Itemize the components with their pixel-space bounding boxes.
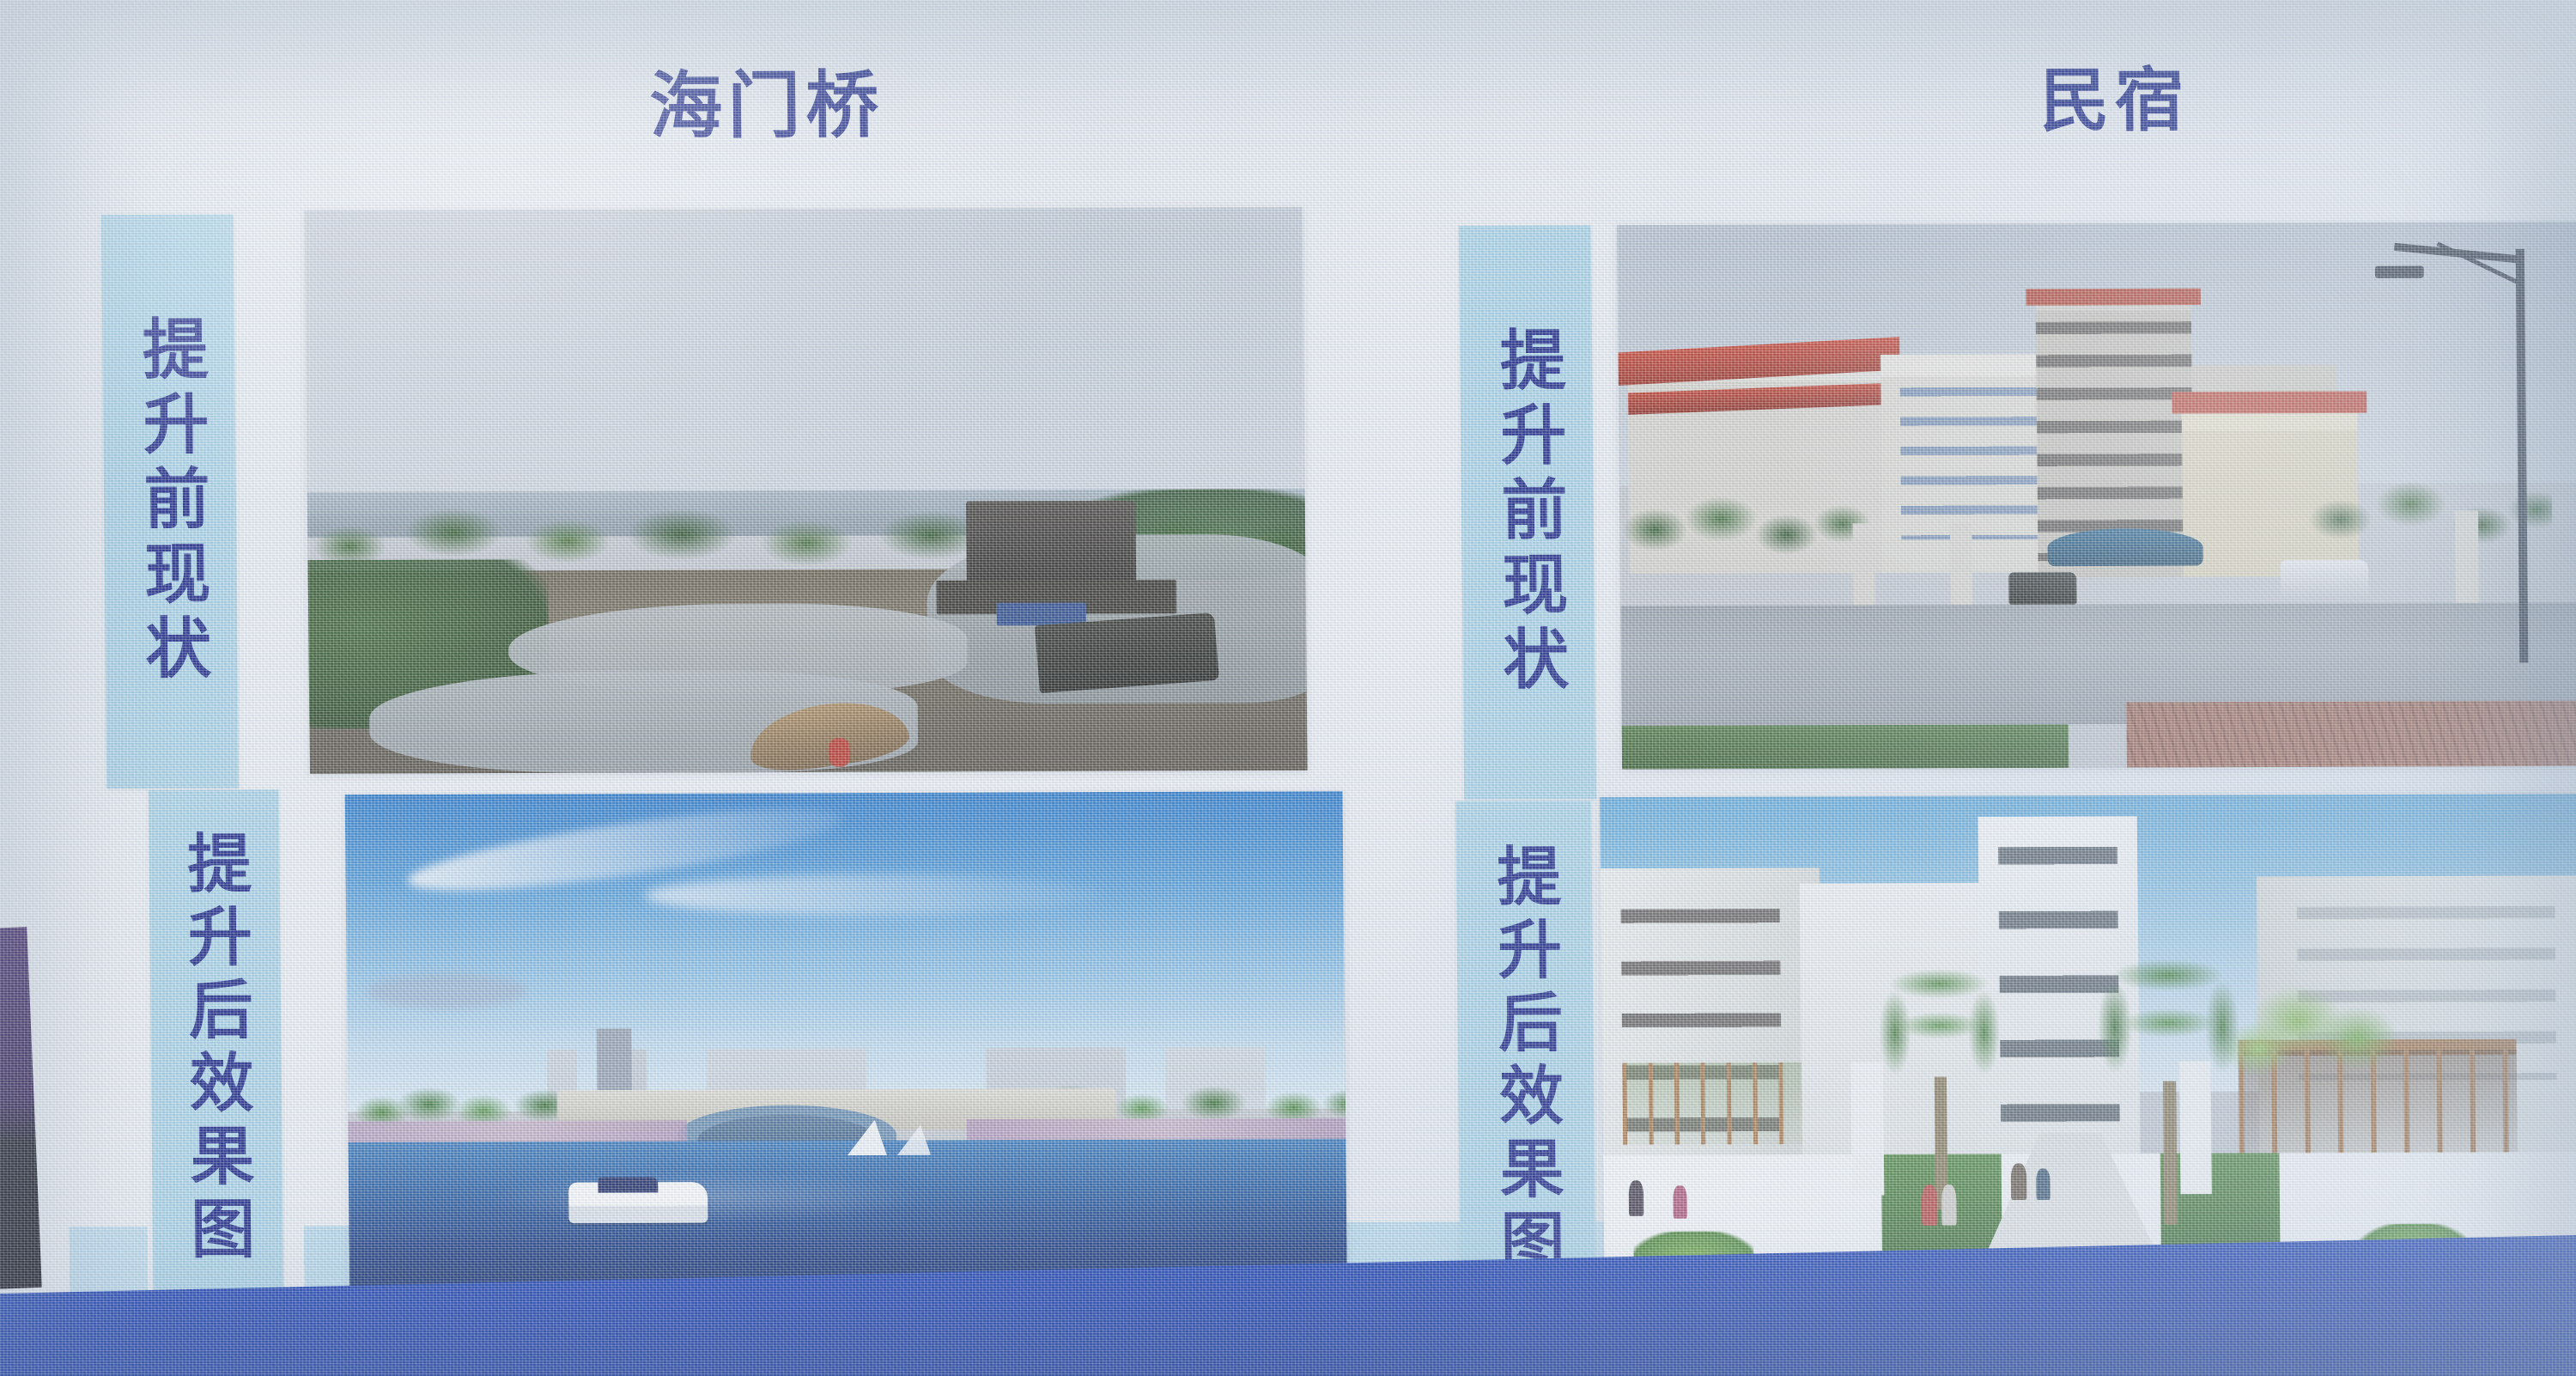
label-strip-after-right: 提升后效果图	[1455, 801, 1596, 1323]
left-trees	[1619, 464, 1874, 595]
label-strip-before-right: 提升前现状	[1459, 225, 1596, 799]
pedestrian-figure	[2011, 1164, 2027, 1200]
palm-tree-2	[2078, 938, 2258, 1123]
panel-heading-homestay: 民宿	[2039, 44, 2190, 145]
label-strip-after-left: 提升后效果图	[149, 789, 284, 1308]
rendering-after-haimen-bridge: 效果图：蓝色水面、石拱桥、两岸绿化花带与游船	[345, 791, 1348, 1306]
pedestrian-figure	[1628, 1180, 1643, 1216]
gate-pillar-2	[1950, 523, 1972, 605]
palm-tree-1	[1860, 949, 2020, 1123]
red-roof-4	[2172, 392, 2367, 414]
panel-heading-haimen-bridge: 海门桥	[649, 47, 884, 153]
parked-car-dark	[2008, 572, 2077, 605]
pedestrian-figure	[1941, 1184, 1957, 1226]
boatman-figure	[829, 738, 851, 766]
pedestrian-figure	[1673, 1185, 1687, 1219]
roadside-grass	[1622, 724, 2069, 769]
gate-pillar-1	[1853, 524, 1875, 606]
house-3-balconies	[2036, 321, 2194, 561]
blue-barrel	[997, 602, 1087, 625]
white-pillar-left	[1850, 1062, 1884, 1195]
rendering-after-homestay: 效果图：白色民宿组团、棕榈树步道、廊架与行人	[1600, 794, 2576, 1308]
photo-before-haimen-bridge: 现状河道：裸露泥滩、杂乱岸线、停靠的渔船与旧趸船	[305, 207, 1308, 774]
gate-pillar-3	[2455, 510, 2479, 603]
blue-awning	[2047, 528, 2202, 567]
parked-suv-white	[2281, 560, 2368, 599]
street-lamp-head	[2375, 266, 2424, 278]
house-2-windows	[1900, 387, 2038, 540]
photographed-screen: 海门桥 民宿 提升前现状 现状河道：裸露泥滩、杂乱	[0, 0, 2576, 1376]
brick-paving	[2127, 701, 2576, 768]
white-pillar-right	[2179, 1061, 2213, 1194]
moored-barge	[1035, 612, 1219, 693]
pedestrian-figure	[1922, 1184, 1938, 1226]
cloud-puff	[367, 973, 526, 1009]
lawn-right	[2160, 1153, 2280, 1245]
photo-before-homestay: 现状民房：沿路多层自建房、红色坡屋顶、路灯与停车	[1617, 222, 2576, 769]
label-strip-before-left: 提升前现状	[101, 215, 239, 788]
boat-wake	[488, 1171, 927, 1223]
pergola-left	[1622, 1062, 1801, 1145]
red-roof-3	[2026, 289, 2201, 306]
tour-boat-cabin	[598, 1177, 658, 1192]
sky-layer	[305, 207, 1305, 514]
pedestrian-figure	[2036, 1169, 2050, 1200]
presentation-slide: 海门桥 民宿 提升前现状 现状河道：裸露泥滩、杂乱	[0, 0, 2576, 1376]
